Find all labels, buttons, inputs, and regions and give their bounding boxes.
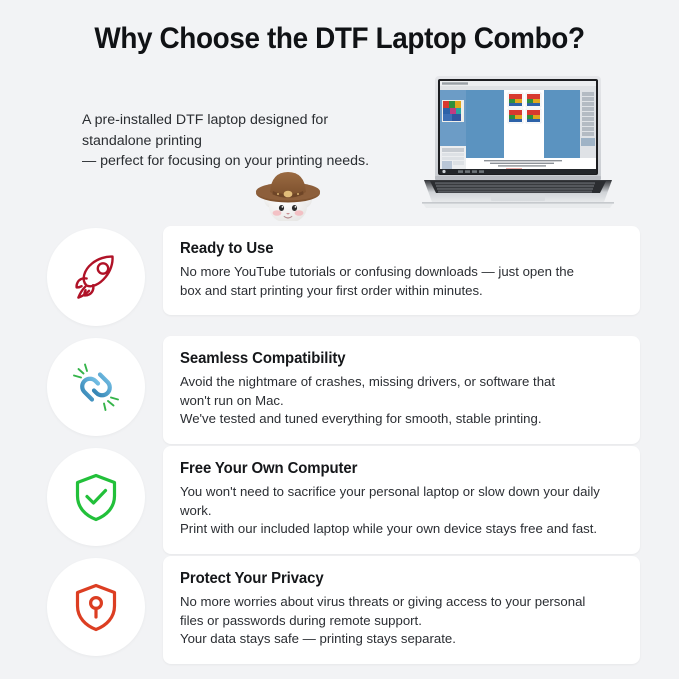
laptop-dtf-software-photo	[418, 72, 618, 212]
page-title: Why Choose the DTF Laptop Combo?	[24, 22, 655, 56]
feature-body-line: We've tested and tuned everything for sm…	[180, 410, 622, 429]
feature-title: Protect Your Privacy	[180, 570, 609, 588]
feature-body-line: You won't need to sacrifice your persona…	[180, 483, 622, 502]
feature-row: Seamless Compatibility Avoid the nightma…	[0, 334, 679, 444]
intro-line-1: A pre-installed DTF laptop designed for	[82, 110, 412, 131]
feature-body-line: box and start printing your first order …	[180, 282, 622, 301]
cowboy-cat-mascot	[240, 163, 336, 221]
feature-icon-circle	[47, 558, 145, 656]
feature-body-line: No more YouTube tutorials or confusing d…	[180, 263, 622, 282]
feature-body: Avoid the nightmare of crashes, missing …	[180, 373, 622, 429]
shield-lock-icon	[70, 581, 122, 633]
feature-title: Seamless Compatibility	[180, 350, 609, 368]
feature-icon-circle	[47, 448, 145, 546]
feature-body-line: work.	[180, 502, 622, 521]
shield-check-icon	[70, 471, 122, 523]
feature-body: No more YouTube tutorials or confusing d…	[180, 263, 622, 300]
feature-title: Ready to Use	[180, 240, 609, 258]
link-chain-icon	[69, 360, 123, 414]
feature-card: Ready to Use No more YouTube tutorials o…	[163, 226, 640, 315]
feature-icon-circle	[47, 338, 145, 436]
promo-page: Why Choose the DTF Laptop Combo? A pre-i…	[0, 0, 679, 679]
feature-row: Protect Your Privacy No more worries abo…	[0, 554, 679, 666]
feature-body: No more worries about virus threats or g…	[180, 593, 622, 649]
feature-body-line: No more worries about virus threats or g…	[180, 593, 622, 612]
feature-icon-circle	[47, 228, 145, 326]
feature-card: Seamless Compatibility Avoid the nightma…	[163, 336, 640, 444]
feature-card: Protect Your Privacy No more worries abo…	[163, 556, 640, 664]
feature-body-line: Avoid the nightmare of crashes, missing …	[180, 373, 622, 392]
feature-body-line: won't run on Mac.	[180, 392, 622, 411]
feature-body-line: Your data stays safe — printing stays se…	[180, 630, 622, 649]
feature-body: You won't need to sacrifice your persona…	[180, 483, 622, 539]
intro-line-2: standalone printing	[82, 131, 412, 152]
rocket-icon	[70, 251, 122, 303]
feature-title: Free Your Own Computer	[180, 460, 609, 478]
feature-body-line: files or passwords during remote support…	[180, 612, 622, 631]
feature-card: Free Your Own Computer You won't need to…	[163, 446, 640, 554]
feature-body-line: Print with our included laptop while you…	[180, 520, 622, 539]
feature-row: Free Your Own Computer You won't need to…	[0, 444, 679, 554]
feature-row: Ready to Use No more YouTube tutorials o…	[0, 224, 679, 334]
feature-list: Ready to Use No more YouTube tutorials o…	[0, 224, 679, 666]
